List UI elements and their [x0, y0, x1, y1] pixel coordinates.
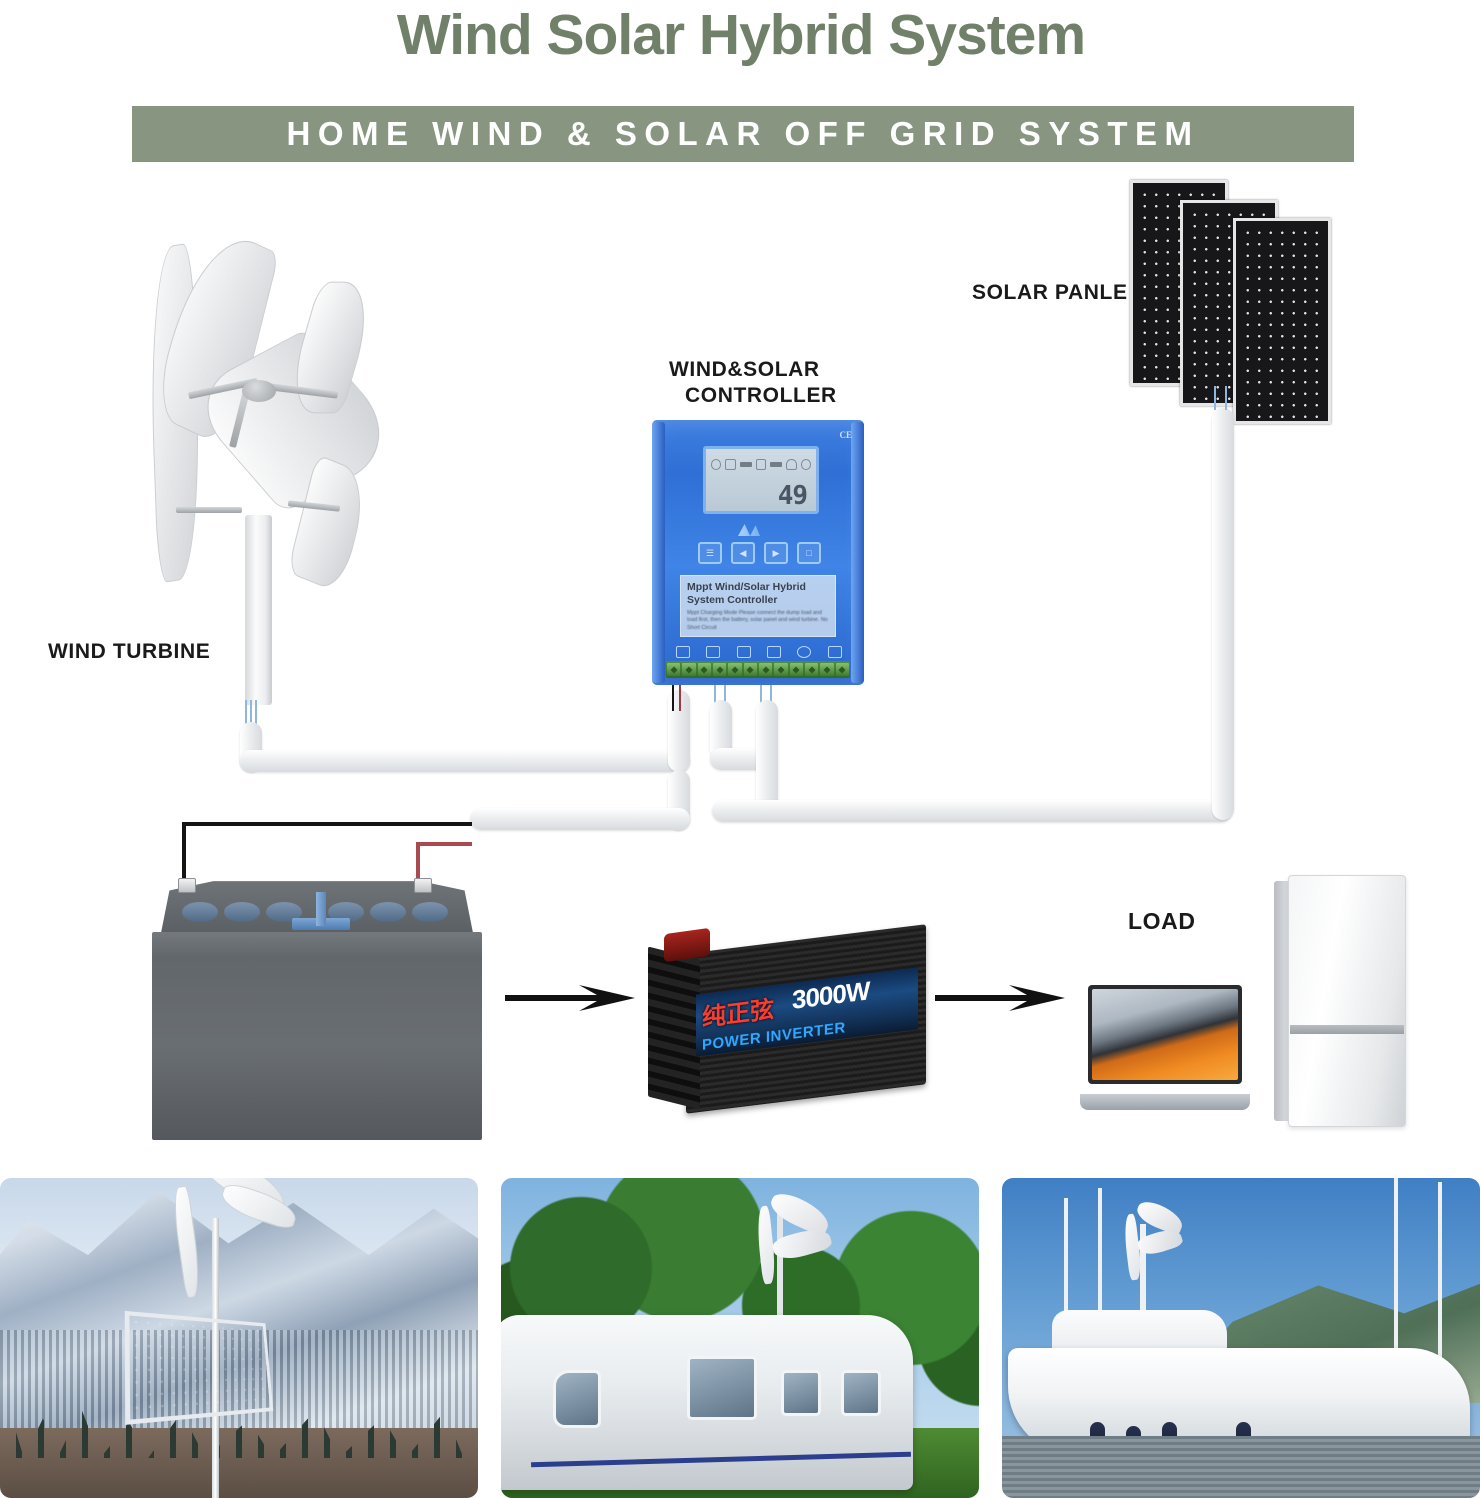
terminal-screw[interactable]	[698, 663, 711, 676]
controller-left-button[interactable]: ◀	[731, 542, 755, 564]
laptop-graphic	[1080, 985, 1250, 1110]
turbine-hub	[242, 380, 276, 402]
solar-icon	[737, 646, 751, 658]
conduit-solar-horizontal-b	[712, 800, 1232, 822]
photo-snow-mountain-turbine	[0, 1178, 478, 1498]
inverter-chinese-text: 纯正弦	[702, 989, 774, 1033]
battery-cap	[224, 902, 260, 922]
solar-panel-leads	[1214, 386, 1227, 410]
subtitle-text: HOME WIND & SOLAR OFF GRID SYSTEM	[287, 115, 1200, 153]
terminal-screw[interactable]	[820, 663, 833, 676]
controller-menu-button[interactable]: ☰	[698, 542, 722, 564]
lcd-value: 49	[778, 483, 807, 509]
lcd-clock-icon	[711, 459, 721, 470]
lcd-battery-icon	[740, 462, 752, 467]
arrow-battery-to-inverter	[505, 985, 635, 1011]
controller-label-line2: CONTROLLER	[685, 384, 837, 408]
solar-cells	[1239, 224, 1325, 418]
battery-graphic	[152, 880, 482, 1145]
terminal-screw[interactable]	[713, 663, 726, 676]
dump-load-icon	[767, 646, 781, 658]
wind-solar-controller[interactable]: CE 49 ☰ ◀ ▶ □ Mppt Wind/Solar Hybrid Sys…	[652, 420, 864, 685]
solar-panel-3	[1233, 218, 1331, 424]
power-inverter-graphic: 纯正弦 3000W POWER INVERTER	[648, 925, 933, 1115]
battery-cap	[182, 902, 218, 922]
battery-handle	[292, 892, 350, 932]
controller-right-button[interactable]: ▶	[764, 542, 788, 564]
lcd-panel-icon	[756, 459, 766, 470]
terminal-screw[interactable]	[759, 663, 772, 676]
lead-wire	[1225, 386, 1227, 410]
battery-cap	[412, 902, 448, 922]
fridge-door-divider	[1290, 1025, 1404, 1034]
inverter-heatsink	[648, 947, 700, 1110]
photo-strip	[0, 1178, 1482, 1498]
refrigerator-graphic	[1288, 875, 1406, 1127]
turbine-spoke	[176, 507, 242, 513]
terminal-screw[interactable]	[805, 663, 818, 676]
arrow-inverter-to-load	[935, 985, 1065, 1011]
controller-output-leads	[672, 685, 681, 711]
terminal-screw[interactable]	[682, 663, 695, 676]
laptop-wallpaper	[1092, 989, 1238, 1080]
ground-icon	[828, 646, 842, 658]
lead-wire	[1214, 386, 1216, 410]
load-label: LOAD	[1128, 908, 1196, 935]
photo-rv-caravan-turbine	[501, 1178, 979, 1498]
fridge-body	[1288, 875, 1406, 1127]
controller-spec-sub: Mppt Charging Mode Please connect the du…	[687, 610, 829, 633]
controller-lcd-display: 49	[703, 446, 819, 514]
lcd-wind-icon	[725, 459, 735, 470]
lead-wire-negative	[672, 685, 674, 711]
sailboat-mast	[1098, 1188, 1102, 1328]
water	[1002, 1436, 1480, 1498]
controller-terminal-block[interactable]	[666, 661, 850, 678]
controller-rail-left	[652, 422, 665, 683]
sailboat-mast	[1438, 1182, 1442, 1372]
laptop-screen	[1088, 985, 1242, 1084]
lead-wire-positive	[679, 685, 681, 711]
battery-cap	[370, 902, 406, 922]
controller-enter-button[interactable]: □	[797, 542, 821, 564]
wind-turbine-label: WIND TURBINE	[48, 640, 210, 664]
lcd-load-icon	[770, 462, 782, 467]
lcd-icon-row	[711, 453, 811, 475]
rv-window	[553, 1370, 601, 1428]
battery-terminal-positive	[414, 878, 432, 893]
terminal-screw[interactable]	[728, 663, 741, 676]
terminal-screw[interactable]	[774, 663, 787, 676]
battery-face	[152, 932, 482, 1140]
subtitle-banner: HOME WIND & SOLAR OFF GRID SYSTEM	[132, 106, 1354, 162]
rv-window	[841, 1370, 881, 1416]
solar-panel-array	[125, 1311, 274, 1425]
controller-label-line1: WIND&SOLAR	[669, 358, 820, 382]
controller-button-row[interactable]: ☰ ◀ ▶ □	[698, 542, 821, 564]
laptop-base	[1080, 1094, 1250, 1110]
sailboat-mast	[1064, 1198, 1068, 1328]
controller-terminal-icons	[668, 644, 850, 660]
solar-panel-graphic	[1130, 180, 1360, 400]
wind-input-icon	[676, 646, 690, 658]
solar-panel-label: SOLAR PANLE	[972, 281, 1128, 305]
turbine-mast	[245, 515, 272, 705]
ce-mark: CE	[839, 430, 852, 440]
terminal-screw[interactable]	[744, 663, 757, 676]
battery-terminal-negative	[178, 878, 196, 893]
lcd-sun-icon	[801, 459, 811, 470]
controller-spec-title: Mppt Wind/Solar Hybrid System Controller	[687, 581, 829, 607]
terminal-screw[interactable]	[836, 663, 849, 676]
controller-rail-right	[851, 422, 864, 683]
photo-yacht-marina-turbine	[1002, 1178, 1480, 1498]
lamp-icon	[797, 646, 811, 658]
rv-window	[687, 1356, 757, 1420]
wind-turbine-graphic	[150, 225, 400, 705]
rv-window	[781, 1370, 821, 1416]
battery-icon	[706, 646, 720, 658]
inverter-wattage: 3000W	[792, 975, 869, 1016]
terminal-screw[interactable]	[667, 663, 680, 676]
conduit-turbine-horizontal	[240, 750, 690, 772]
lcd-bulb-icon	[786, 459, 796, 470]
controller-spec-label: Mppt Wind/Solar Hybrid System Controller…	[680, 575, 836, 637]
terminal-screw[interactable]	[790, 663, 803, 676]
page-title: Wind Solar Hybrid System	[0, 2, 1482, 68]
conduit-solar-riser	[1212, 408, 1234, 820]
